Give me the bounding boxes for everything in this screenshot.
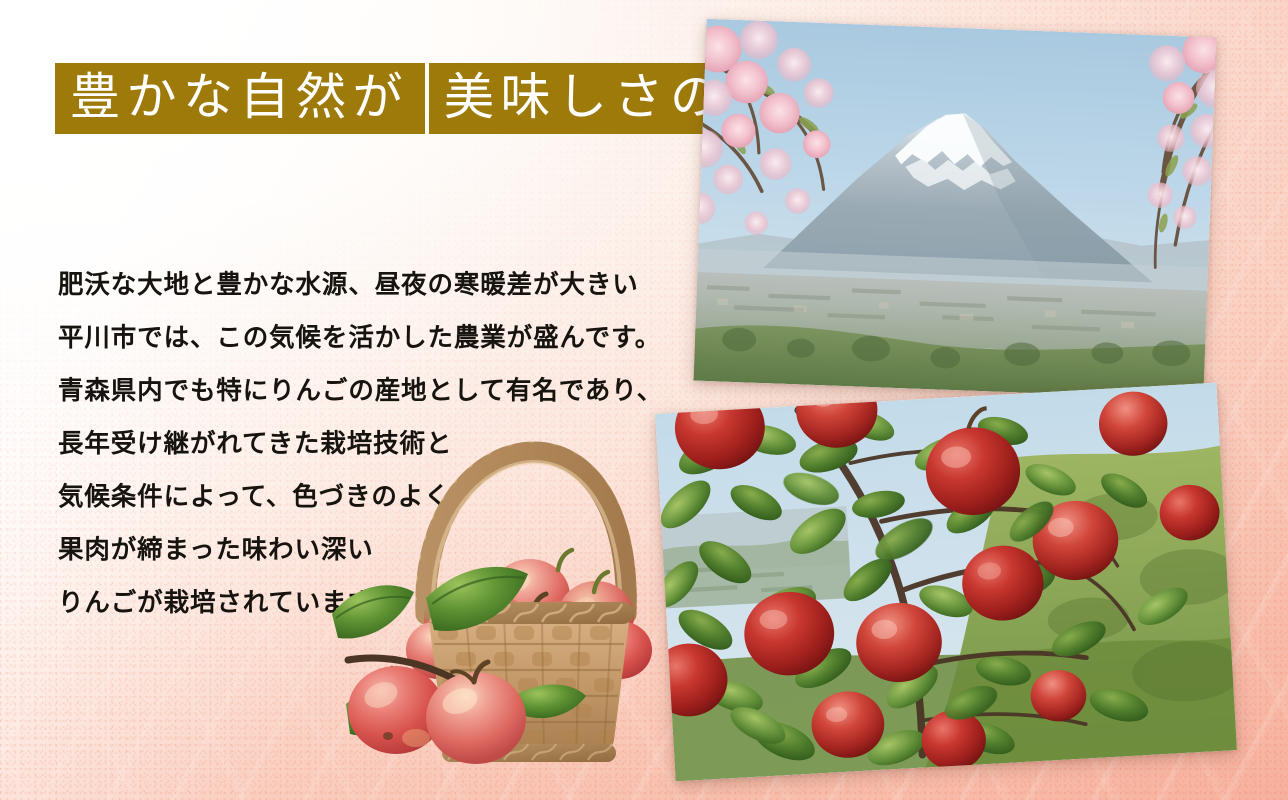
apple-basket-watercolor xyxy=(330,418,702,788)
photo-apple-orchard xyxy=(655,383,1237,782)
headline-banner-line-1: 豊かな自然が xyxy=(55,63,425,134)
body-line: 肥沃な大地と豊かな水源、昼夜の寒暖差が大きい xyxy=(58,258,658,311)
body-line: 青森県内でも特にりんごの産地として有名であり、 xyxy=(58,364,658,417)
promo-page: 豊かな自然が 美味しさの秘密です。 肥沃な大地と豊かな水源、昼夜の寒暖差が大きい… xyxy=(0,0,1288,800)
body-line: 平川市では、この気候を活かした農業が盛んです。 xyxy=(58,311,658,364)
photo-mount-iwaki xyxy=(694,19,1217,399)
mount-iwaki-illustration xyxy=(694,19,1217,399)
apple-basket-illustration xyxy=(330,418,702,788)
apple-orchard-illustration xyxy=(655,383,1237,782)
photo-mount-iwaki-image xyxy=(694,19,1217,399)
photo-apple-orchard-image xyxy=(655,383,1237,782)
